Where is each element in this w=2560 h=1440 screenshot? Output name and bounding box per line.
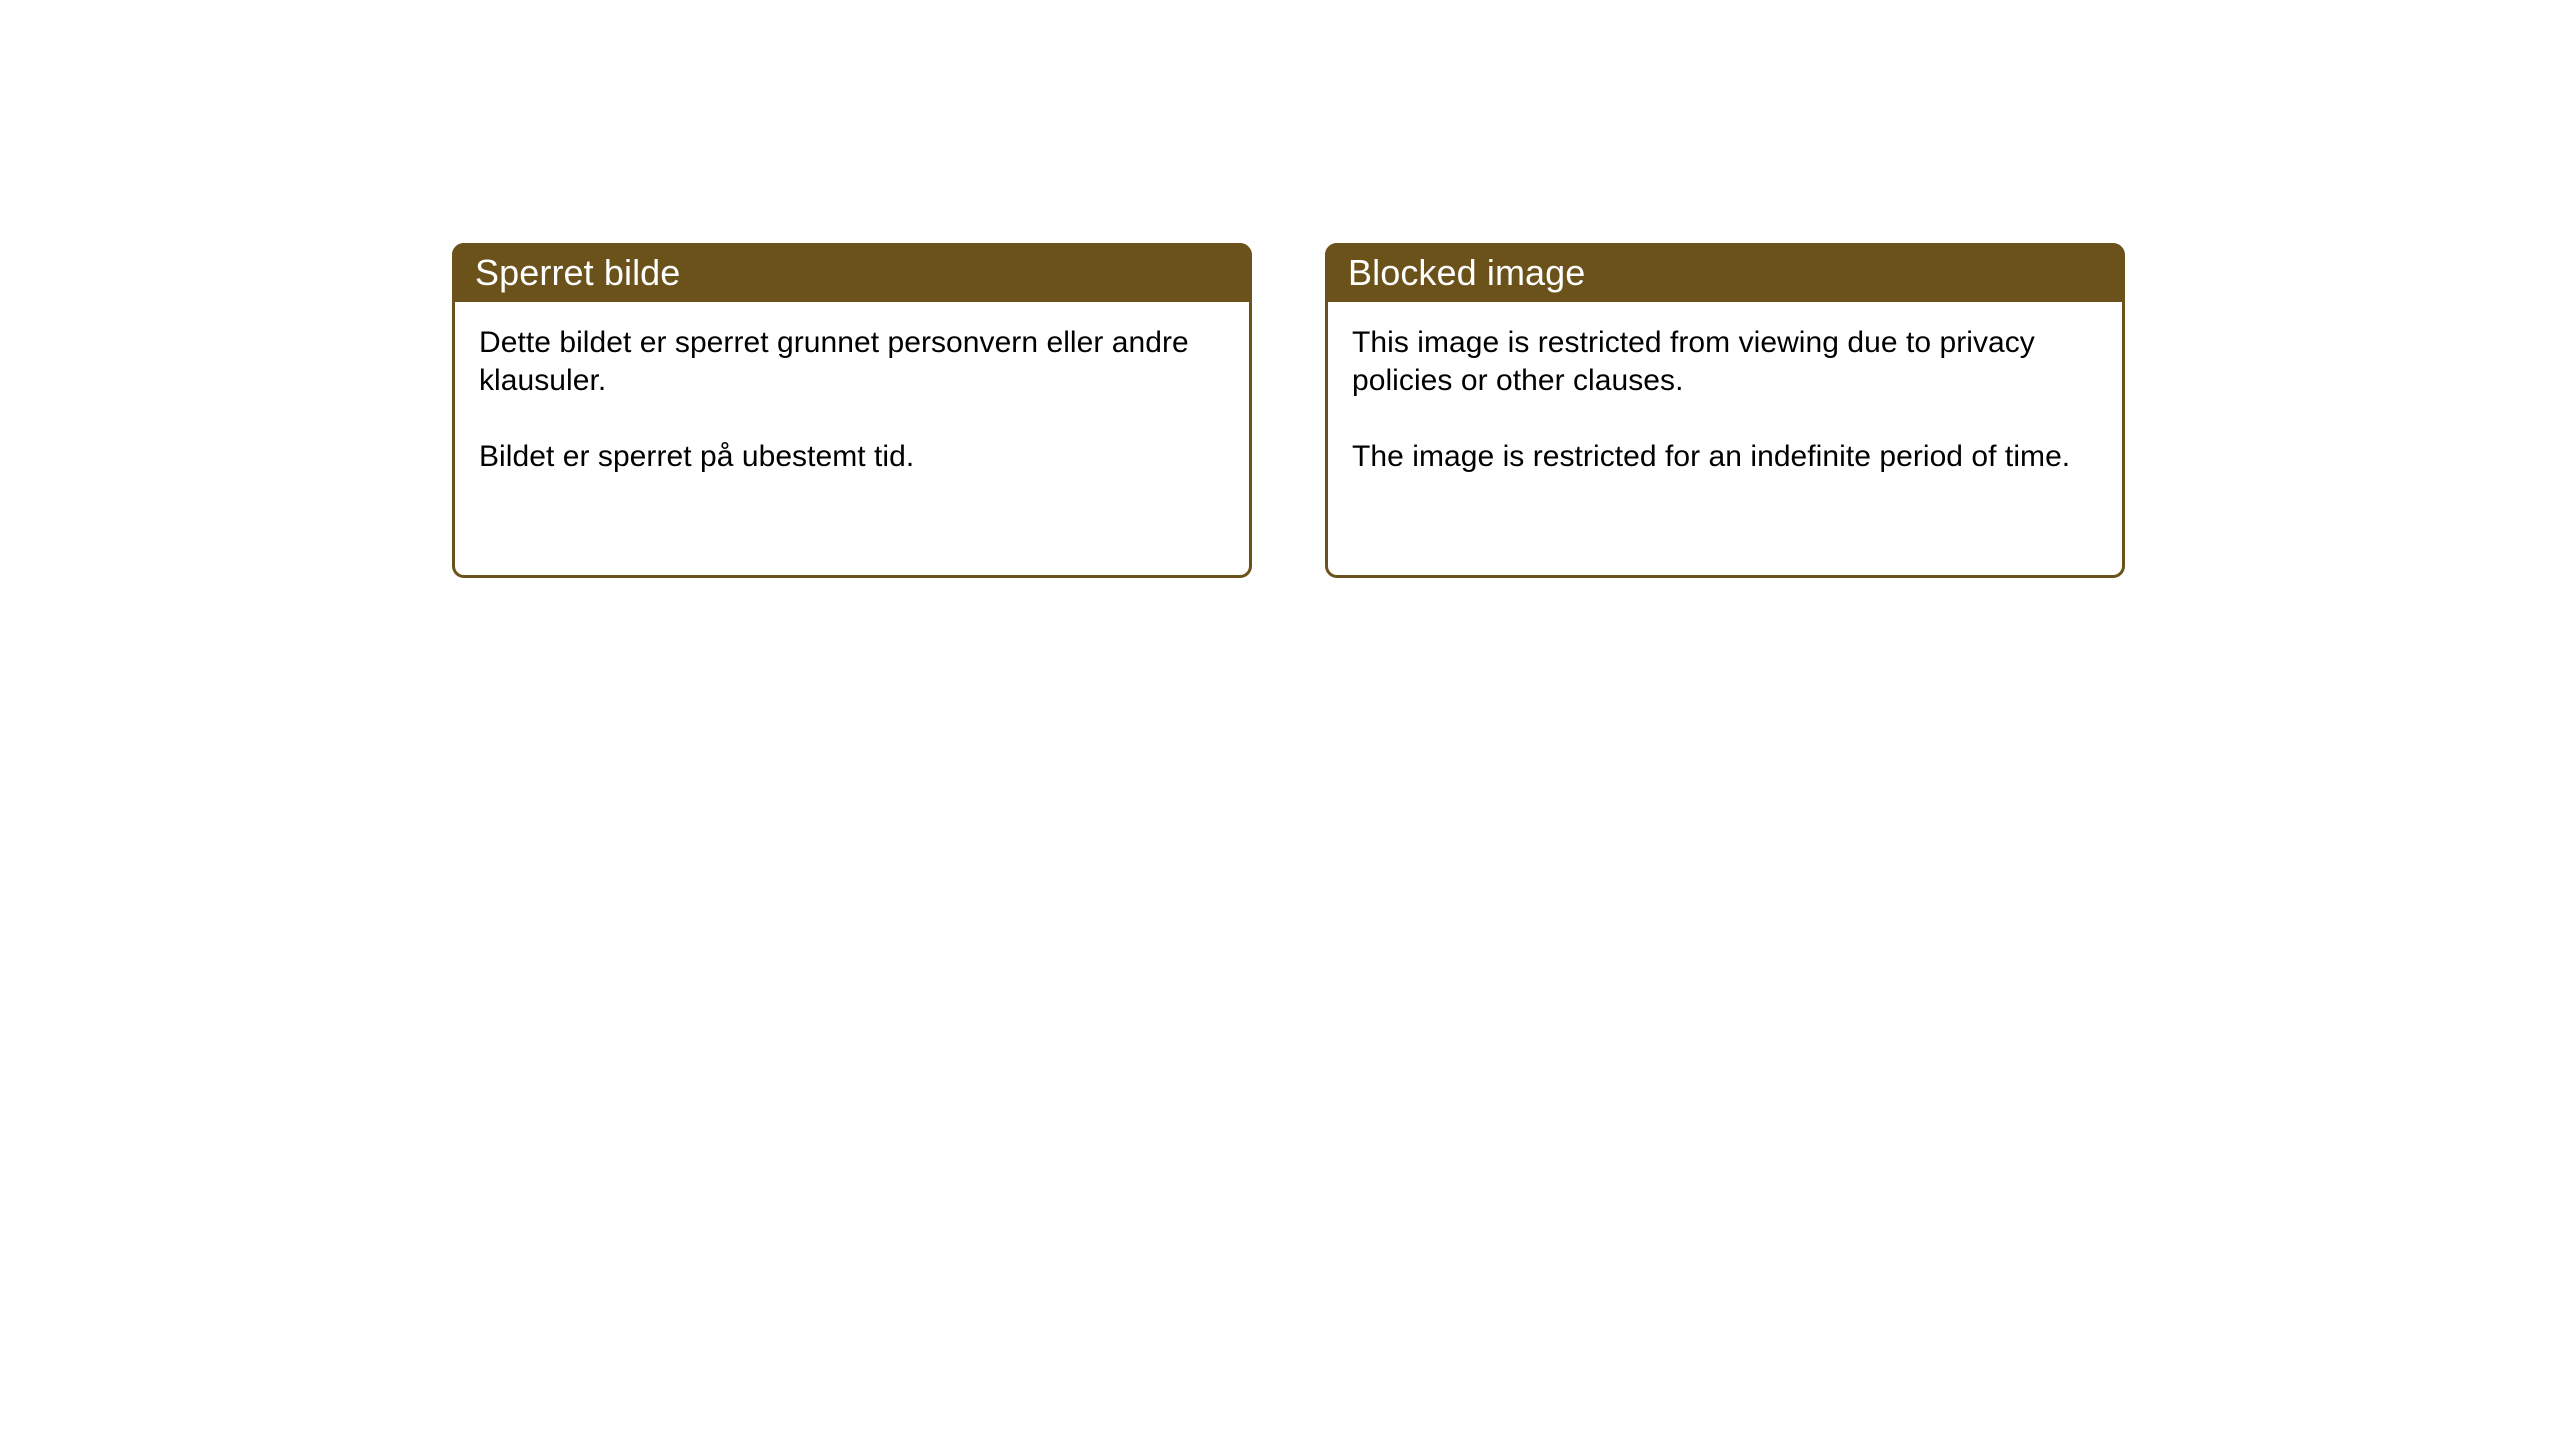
notice-header-english: Blocked image: [1325, 243, 2123, 302]
notice-header-norwegian: Sperret bilde: [452, 243, 1250, 302]
notice-paragraph-duration-norwegian: Bildet er sperret på ubestemt tid.: [479, 438, 1225, 476]
blocked-image-notice-english: Blocked image This image is restricted f…: [1325, 243, 2125, 578]
notice-paragraph-reason-english: This image is restricted from viewing du…: [1352, 324, 2098, 400]
blocked-image-notice-norwegian: Sperret bilde Dette bildet er sperret gr…: [452, 243, 1252, 578]
notice-paragraph-reason-norwegian: Dette bildet er sperret grunnet personve…: [479, 324, 1225, 400]
page-canvas: Sperret bilde Dette bildet er sperret gr…: [0, 0, 2560, 1440]
notice-body-norwegian: Dette bildet er sperret grunnet personve…: [455, 305, 1249, 575]
notice-title-norwegian: Sperret bilde: [475, 253, 680, 293]
notice-title-english: Blocked image: [1348, 253, 1585, 293]
notice-body-english: This image is restricted from viewing du…: [1328, 305, 2122, 575]
notice-paragraph-duration-english: The image is restricted for an indefinit…: [1352, 438, 2098, 476]
